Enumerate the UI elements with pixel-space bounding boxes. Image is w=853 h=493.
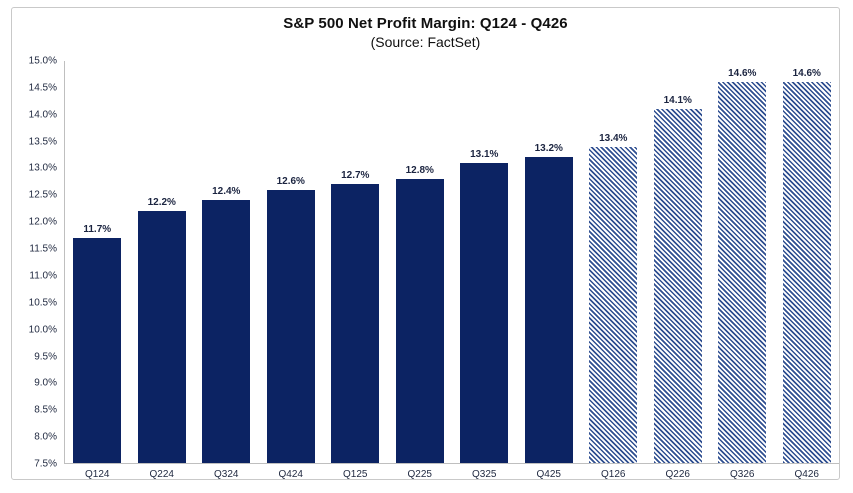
y-axis-tick-label: 12.0% <box>29 217 57 228</box>
bar-slot: 14.6%Q426 <box>775 61 840 463</box>
x-axis-tick-label: Q324 <box>214 469 238 480</box>
bar-value-label: 13.4% <box>599 133 627 144</box>
bar-slot: 12.6%Q424 <box>259 61 324 463</box>
y-axis-tick-label: 14.0% <box>29 109 57 120</box>
y-axis-tick-label: 14.5% <box>29 82 57 93</box>
y-axis-tick-label: 7.5% <box>34 459 57 470</box>
x-axis-tick-label: Q226 <box>666 469 690 480</box>
plot-area: 15.0%14.5%14.0%13.5%13.0%12.5%12.0%11.5%… <box>64 61 839 464</box>
y-axis-tick-label: 9.5% <box>34 351 57 362</box>
bar-value-label: 14.6% <box>728 68 756 79</box>
chart-container: S&P 500 Net Profit Margin: Q124 - Q426 (… <box>11 7 840 480</box>
bar-q126[interactable]: 13.4% <box>589 147 637 463</box>
bar-q125[interactable]: 12.7% <box>331 184 379 463</box>
bar-slot: 13.1%Q325 <box>452 61 517 463</box>
bar-value-label: 14.6% <box>793 68 821 79</box>
bar-value-label: 12.8% <box>406 165 434 176</box>
bar-q325[interactable]: 13.1% <box>460 163 508 463</box>
x-axis-tick-label: Q325 <box>472 469 496 480</box>
bar-value-label: 13.1% <box>470 149 498 160</box>
bar-q426[interactable]: 14.6% <box>783 82 831 463</box>
bar-q224[interactable]: 12.2% <box>138 211 186 463</box>
x-axis-line <box>64 463 839 464</box>
x-axis-tick-label: Q426 <box>795 469 819 480</box>
x-axis-tick-label: Q224 <box>150 469 174 480</box>
bar-q124[interactable]: 11.7% <box>73 238 121 463</box>
y-axis-tick-label: 8.0% <box>34 432 57 443</box>
bar-value-label: 12.4% <box>212 186 240 197</box>
x-axis-tick-label: Q125 <box>343 469 367 480</box>
bar-slot: 13.2%Q425 <box>517 61 582 463</box>
x-axis-tick-label: Q225 <box>408 469 432 480</box>
y-axis-tick-label: 9.0% <box>34 378 57 389</box>
y-axis-tick-label: 11.5% <box>29 244 57 255</box>
bar-slot: 14.6%Q326 <box>710 61 775 463</box>
bar-value-label: 12.6% <box>277 176 305 187</box>
y-axis-tick-label: 10.0% <box>29 324 57 335</box>
bar-slot: 12.8%Q225 <box>388 61 453 463</box>
y-axis-tick-label: 13.5% <box>29 136 57 147</box>
bar-q326[interactable]: 14.6% <box>718 82 766 463</box>
bar-value-label: 14.1% <box>664 95 692 106</box>
bar-q225[interactable]: 12.8% <box>396 179 444 463</box>
bar-value-label: 12.2% <box>148 197 176 208</box>
bar-q226[interactable]: 14.1% <box>654 109 702 463</box>
y-axis-tick-label: 15.0% <box>29 56 57 67</box>
x-axis-tick-label: Q326 <box>730 469 754 480</box>
x-axis-tick-label: Q424 <box>279 469 303 480</box>
page-title: S&P 500 Net Profit Margin: Q124 - Q426 <box>12 14 839 33</box>
bar-slot: 12.7%Q125 <box>323 61 388 463</box>
bar-value-label: 11.7% <box>83 224 111 235</box>
bar-q324[interactable]: 12.4% <box>202 200 250 463</box>
x-axis-tick-label: Q126 <box>601 469 625 480</box>
bar-slot: 13.4%Q126 <box>581 61 646 463</box>
bar-slot: 14.1%Q226 <box>646 61 711 463</box>
bar-q425[interactable]: 13.2% <box>525 157 573 463</box>
bar-series: 11.7%Q12412.2%Q22412.4%Q32412.6%Q42412.7… <box>65 61 839 463</box>
bar-value-label: 12.7% <box>341 170 369 181</box>
y-axis-tick-label: 11.0% <box>29 270 57 281</box>
bar-slot: 12.4%Q324 <box>194 61 259 463</box>
x-axis-tick-label: Q124 <box>85 469 109 480</box>
y-axis-tick-label: 10.5% <box>29 297 57 308</box>
y-axis-tick-label: 13.0% <box>29 163 57 174</box>
bar-slot: 11.7%Q124 <box>65 61 130 463</box>
bar-q424[interactable]: 12.6% <box>267 190 315 463</box>
y-axis-tick-label: 12.5% <box>29 190 57 201</box>
chart-title-block: S&P 500 Net Profit Margin: Q124 - Q426 (… <box>12 14 839 51</box>
chart-source-subtitle: (Source: FactSet) <box>12 33 839 51</box>
bar-value-label: 13.2% <box>535 143 563 154</box>
bar-slot: 12.2%Q224 <box>130 61 195 463</box>
y-axis-tick-label: 8.5% <box>34 405 57 416</box>
x-axis-tick-label: Q425 <box>537 469 561 480</box>
